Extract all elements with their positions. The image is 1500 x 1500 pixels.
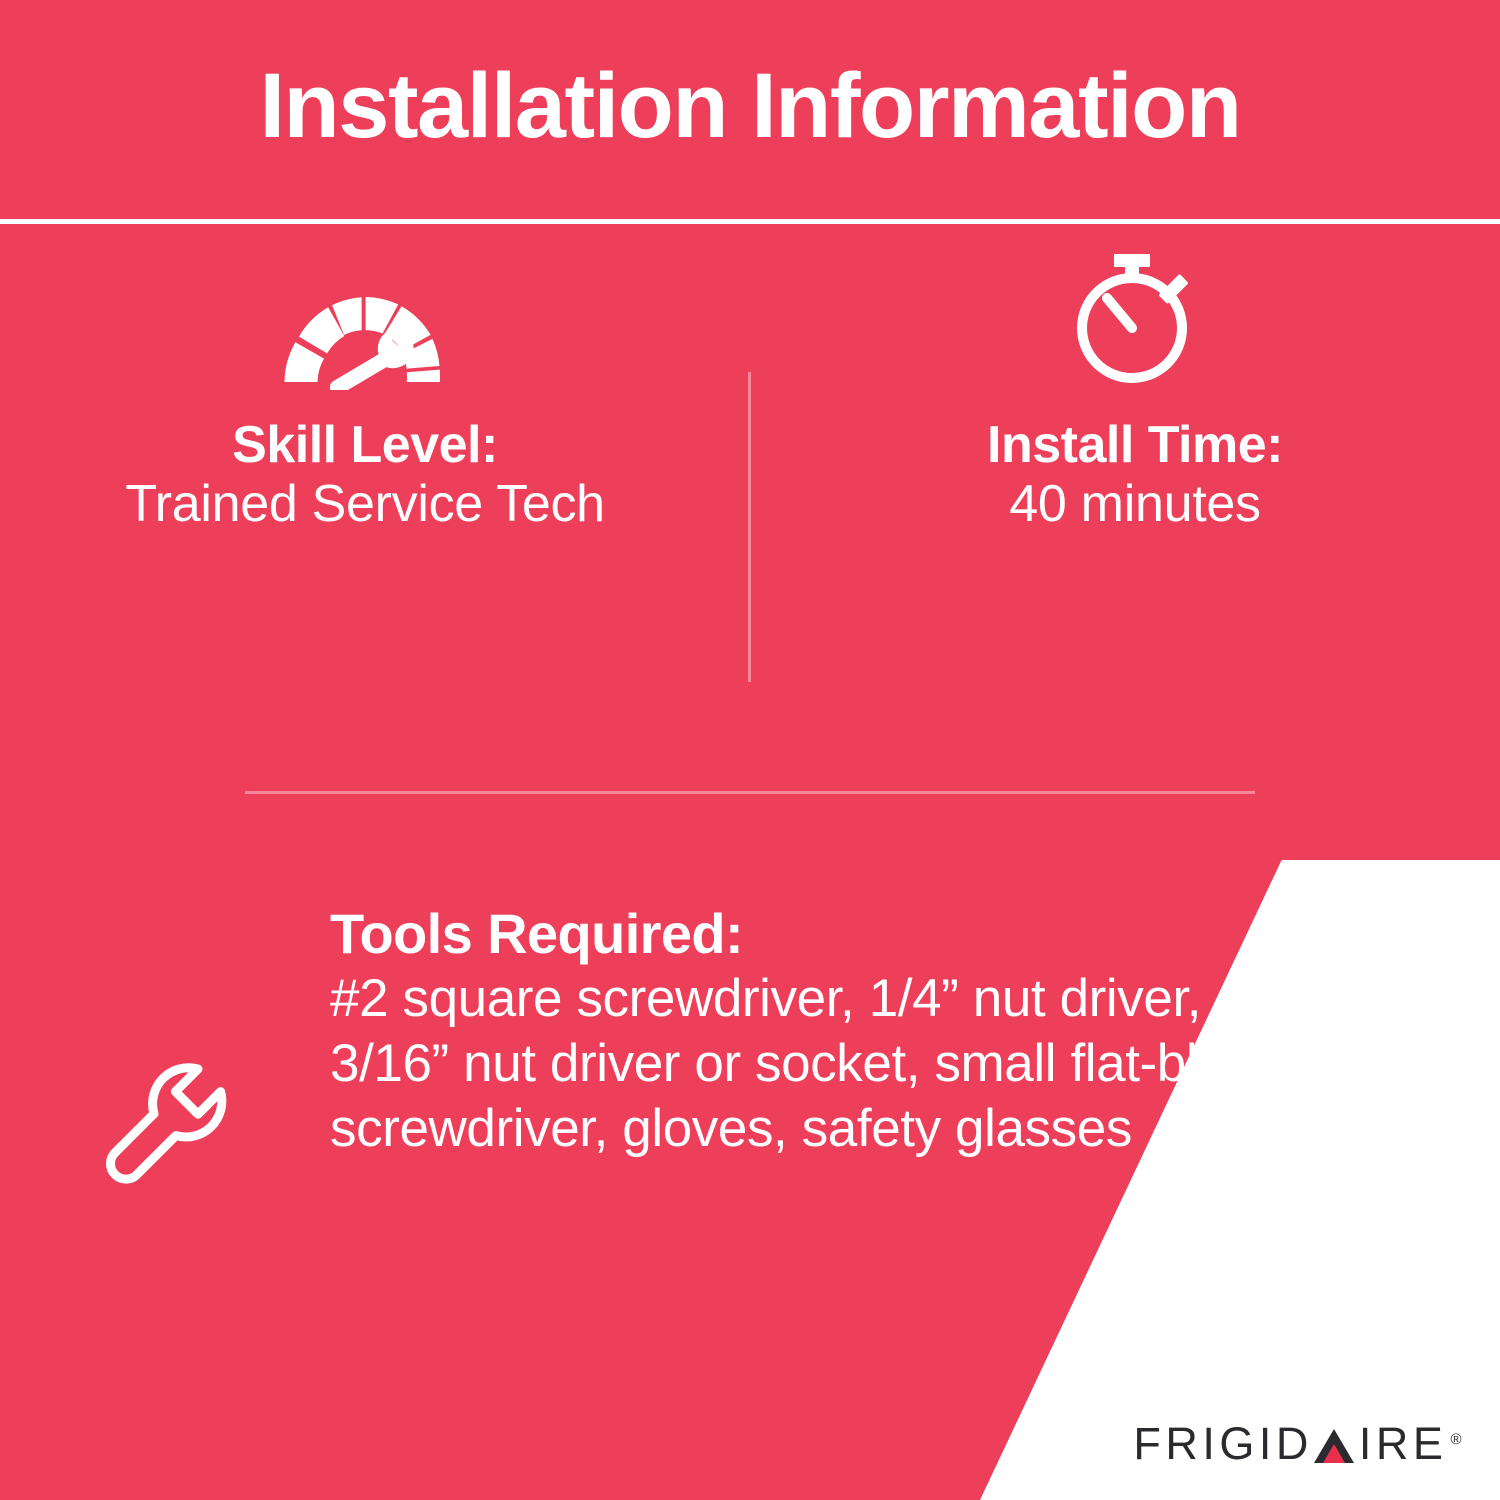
install-time-block: Install Time: 40 minutes — [736, 240, 1500, 720]
install-time-label: Install Time: — [987, 418, 1283, 473]
install-time-text: Install Time: 40 minutes — [987, 418, 1283, 532]
frigidaire-wordmark: FRIGID IRE ® — [1133, 1421, 1466, 1466]
frigidaire-logo: FRIGID IRE ® — [1133, 1421, 1466, 1466]
tools-required-heading: Tools Required: — [330, 905, 1290, 963]
vertical-divider — [748, 372, 751, 682]
installation-information-infographic: Installation Information — [0, 0, 1500, 1500]
tools-required-list: #2 square screwdriver, 1/4” nut driver, … — [330, 967, 1290, 1161]
header-divider — [0, 219, 1500, 224]
stopwatch-icon — [1060, 240, 1210, 390]
skill-level-text: Skill Level: Trained Service Tech — [125, 418, 605, 532]
horizontal-divider — [245, 791, 1255, 794]
logo-text-after-a: IRE — [1359, 1421, 1448, 1466]
skill-level-block: Skill Level: Trained Service Tech — [0, 240, 736, 720]
install-time-value: 40 minutes — [987, 477, 1283, 532]
skill-level-label: Skill Level: — [125, 418, 605, 473]
registered-trademark-symbol: ® — [1450, 1432, 1466, 1447]
header-banner: Installation Information — [0, 0, 1500, 219]
tools-required-block: Tools Required: #2 square screwdriver, 1… — [0, 905, 1500, 1205]
page-title: Installation Information — [259, 60, 1240, 152]
wrench-icon-container — [0, 905, 330, 1205]
skill-level-value: Trained Service Tech — [125, 477, 605, 532]
logo-text-before-a: FRIGID — [1133, 1421, 1313, 1466]
gauge-wrench-icon — [278, 240, 453, 390]
wrench-icon — [95, 1055, 235, 1205]
triangle-a-icon — [1314, 1429, 1354, 1463]
tools-required-text: Tools Required: #2 square screwdriver, 1… — [330, 905, 1500, 1161]
